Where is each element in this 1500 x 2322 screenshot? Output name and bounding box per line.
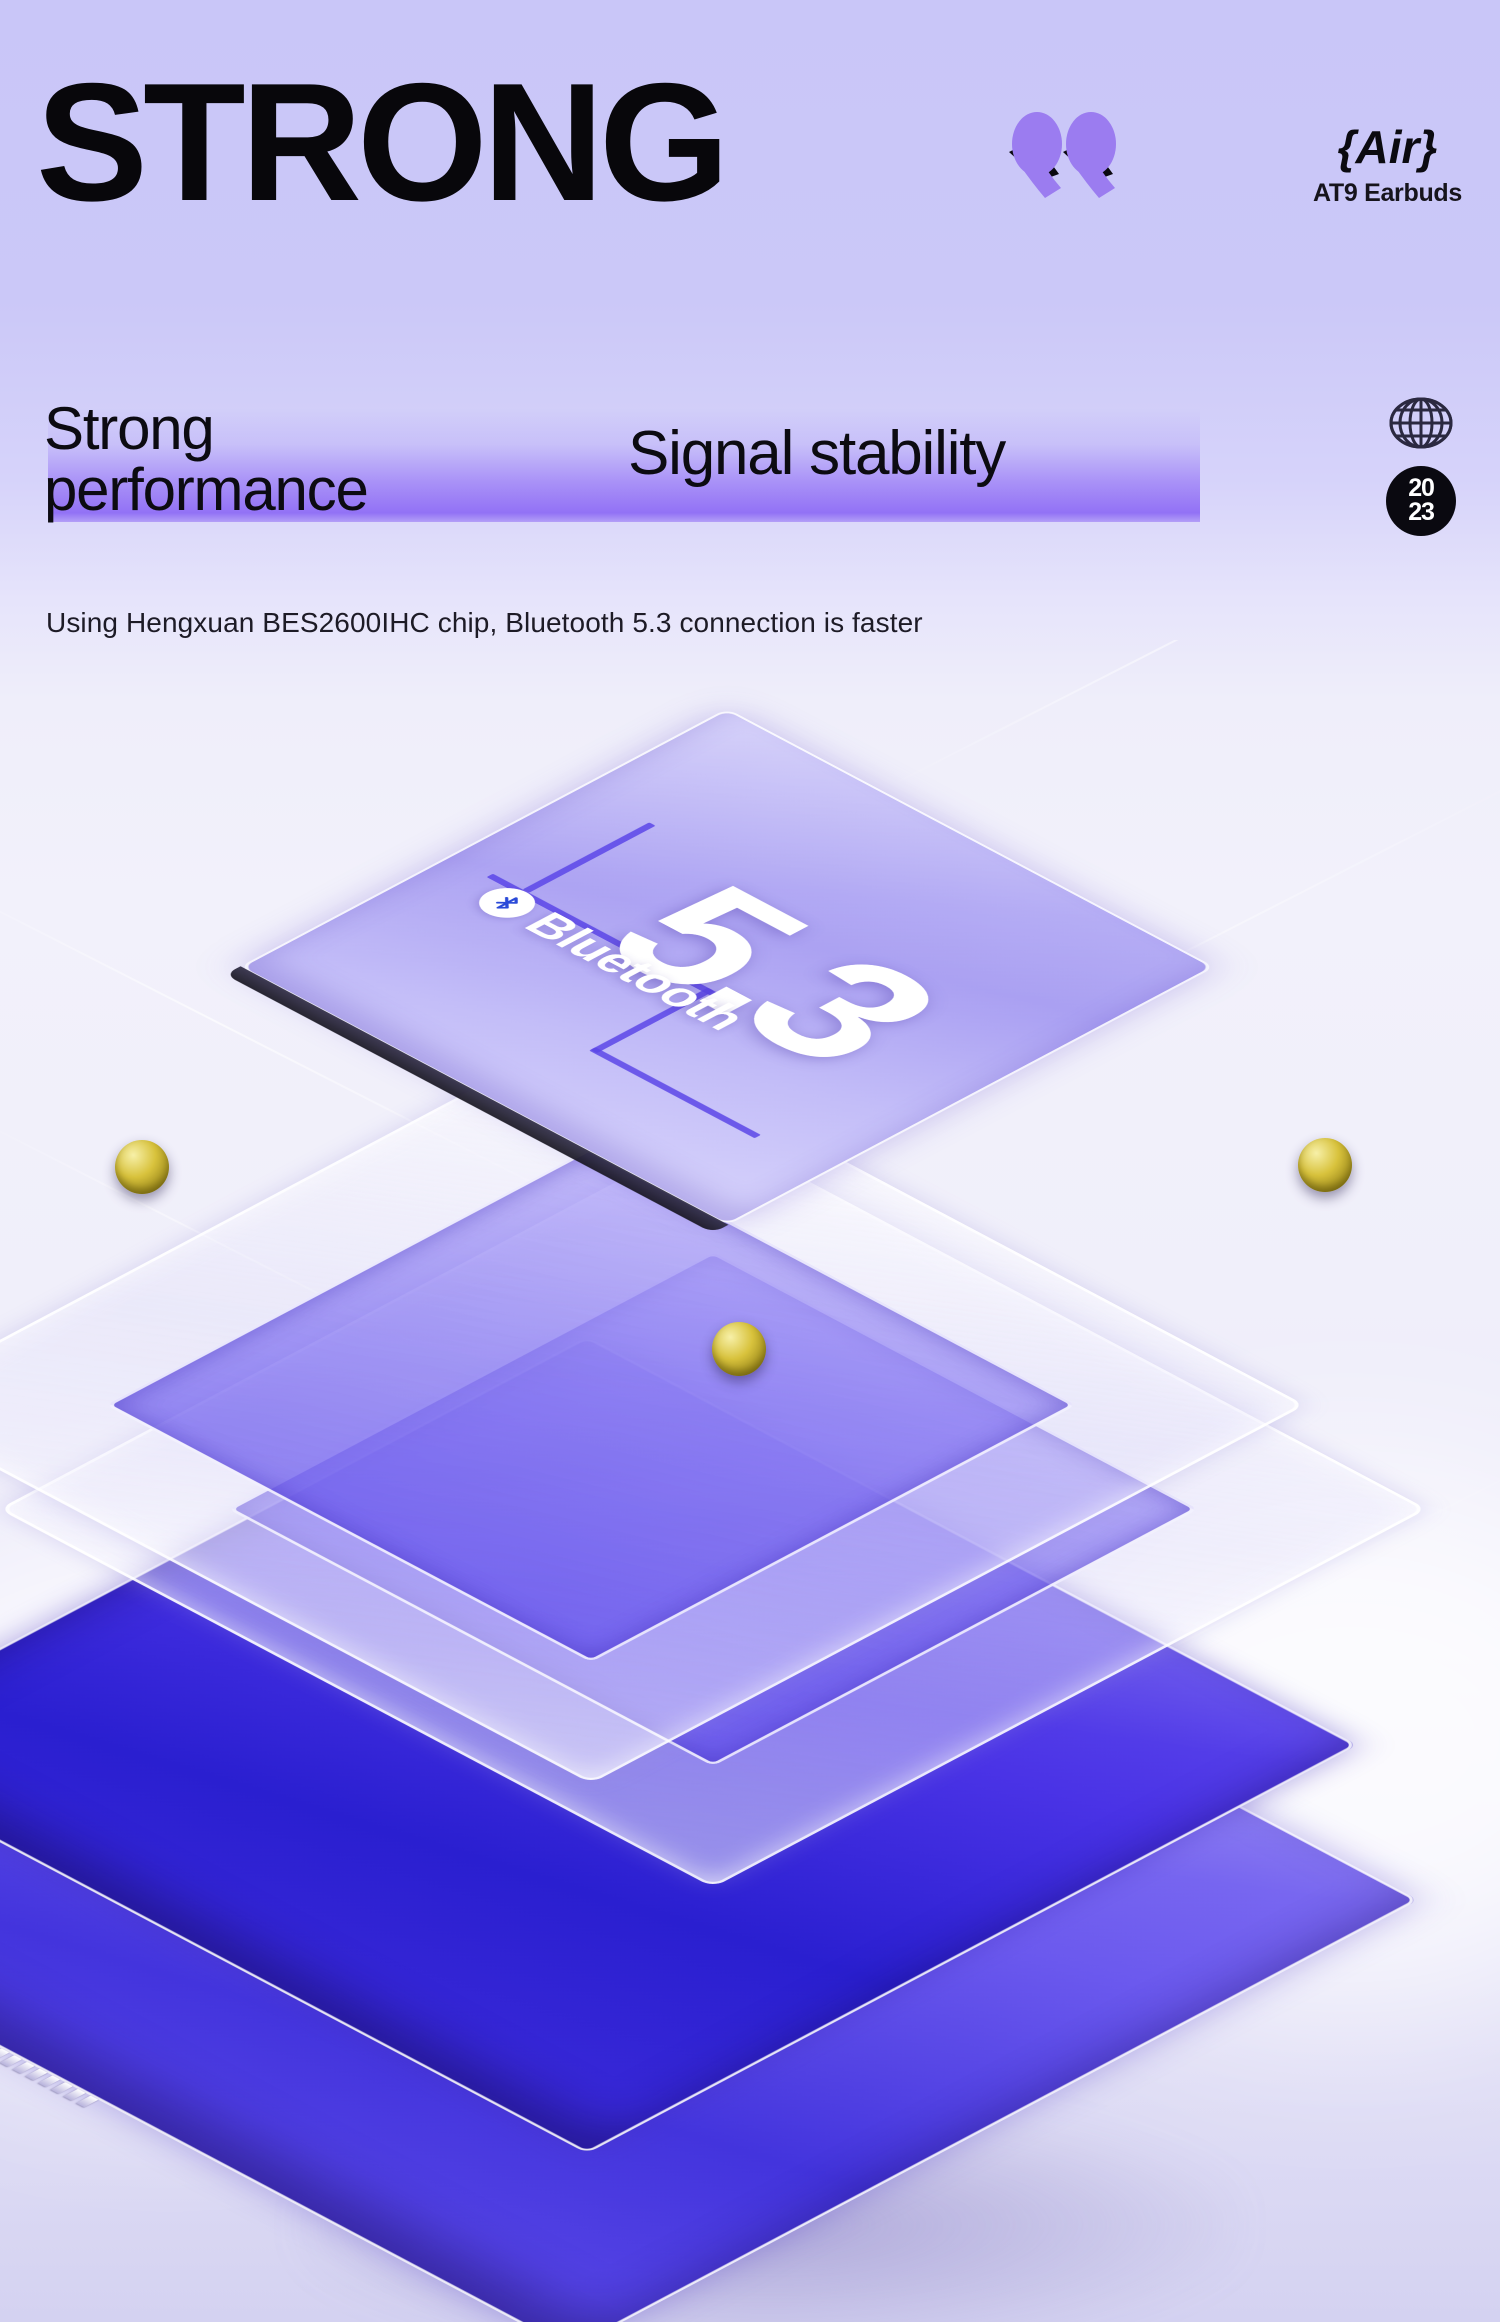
subhead-performance-line1: Strong bbox=[44, 398, 368, 459]
body-copy: Using Hengxuan BES2600IHC chip, Bluetoot… bbox=[46, 607, 923, 639]
gold-capacitor-front bbox=[712, 1322, 766, 1376]
page-title: STRONG bbox=[36, 58, 725, 226]
poster-canvas: 5.3 Bluetooth STRONG bbox=[0, 0, 1500, 2322]
brand-logo: {Air} AT9 Earbuds bbox=[1313, 124, 1462, 208]
year-badge: 20 23 bbox=[1386, 466, 1456, 536]
subhead-performance: Strong performance bbox=[44, 398, 368, 520]
subhead-performance-line2: performance bbox=[44, 459, 368, 520]
brand-model: AT9 Earbuds bbox=[1313, 179, 1462, 208]
exploded-chip-stack: 5.3 Bluetooth bbox=[0, 600, 1500, 2322]
globe-icon bbox=[1386, 388, 1456, 458]
gold-capacitor-left bbox=[115, 1140, 169, 1194]
brand-name: {Air} bbox=[1313, 124, 1462, 170]
year-badge-bottom: 23 bbox=[1408, 501, 1433, 525]
quotation-mark-icon bbox=[1003, 108, 1125, 206]
gold-capacitor-right bbox=[1298, 1138, 1352, 1192]
subhead-signal-stability: Signal stability bbox=[628, 418, 1005, 489]
